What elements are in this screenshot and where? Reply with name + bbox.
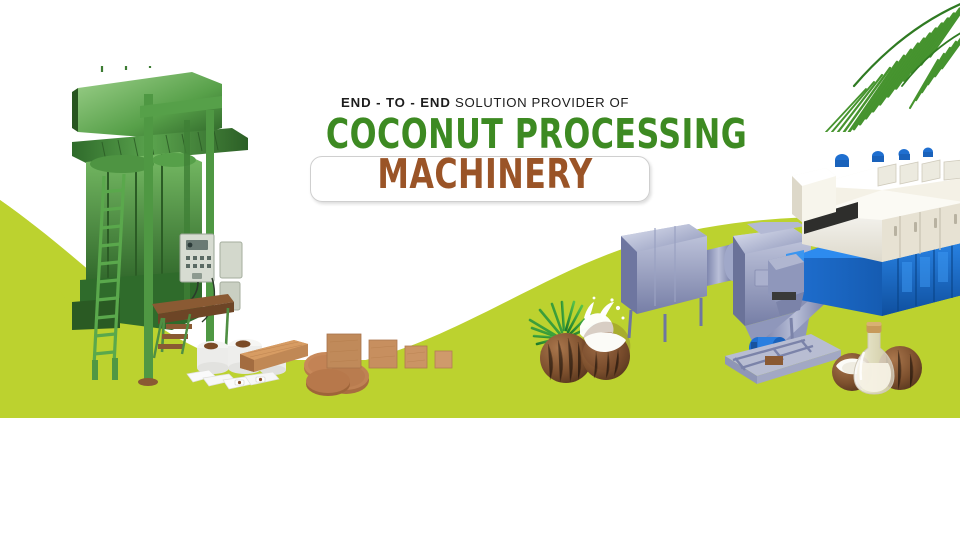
- coconut-machinery-banner: END - TO - END SOLUTION PROVIDER OF COCO…: [0, 0, 960, 540]
- coconut-oil-bottle: [828, 318, 924, 396]
- coir-fibre-dryer: [786, 128, 960, 328]
- headline-line-2: MACHINERY: [326, 156, 644, 194]
- headline-kicker: END - TO - END SOLUTION PROVIDER OF: [300, 96, 670, 109]
- headline-kicker-bold: END - TO - END: [341, 95, 451, 110]
- headline-block: END - TO - END SOLUTION PROVIDER OF COCO…: [300, 96, 670, 194]
- dryer-feed-hopper: [766, 252, 806, 322]
- coir-pith-blocks: [325, 330, 455, 380]
- headline-kicker-rest: SOLUTION PROVIDER OF: [451, 95, 629, 110]
- headline-line-1: COCONUT PROCESSING: [326, 116, 644, 154]
- coir-pith-plank: [238, 334, 310, 376]
